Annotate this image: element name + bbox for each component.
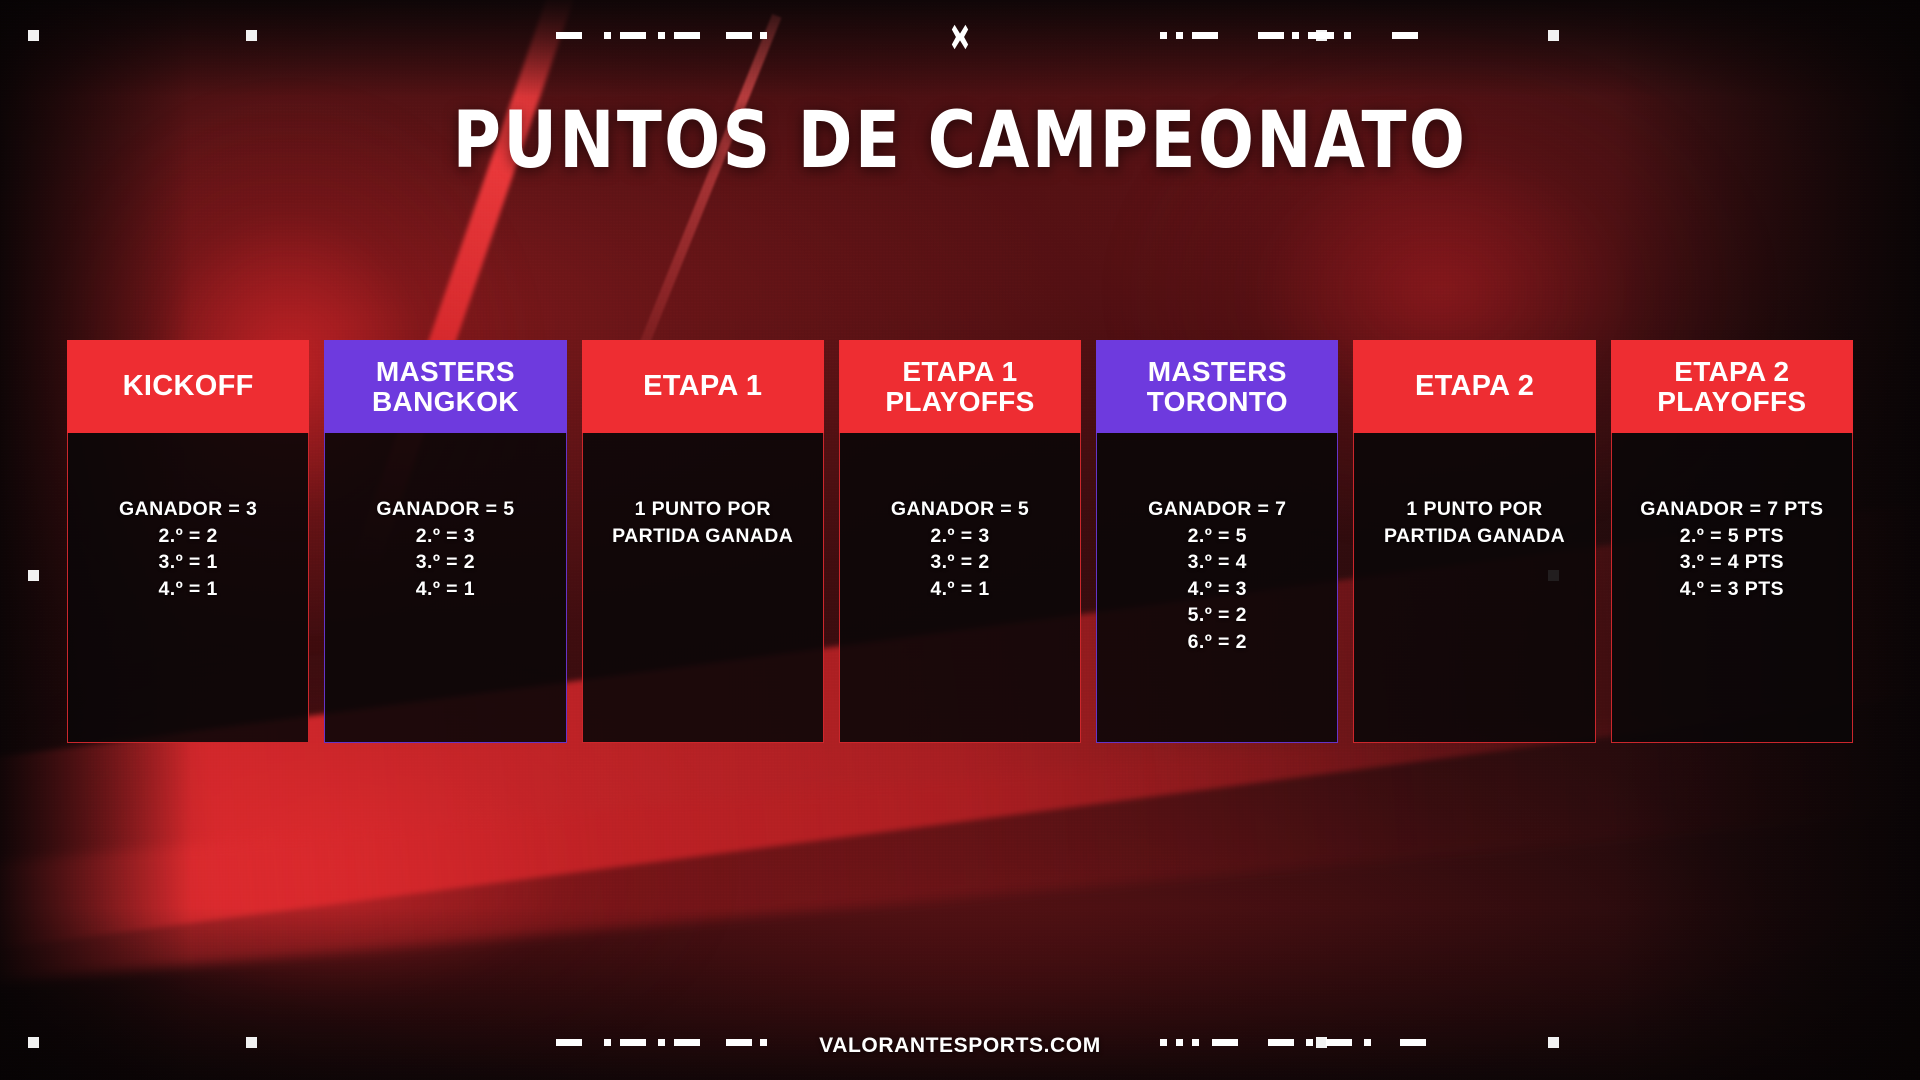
card-header-etapa-1-playoffs: ETAPA 1PLAYOFFS <box>839 340 1081 433</box>
corner-square-marker <box>28 30 39 41</box>
card-header-line: MASTERS <box>1147 357 1288 387</box>
card-points-line: 4.º = 1 <box>840 576 1080 603</box>
card-header-text: MASTERSTORONTO <box>1147 357 1288 416</box>
card-points-line: 6.º = 2 <box>1097 629 1337 656</box>
card-header-kickoff: KICKOFF <box>67 340 309 433</box>
top-dash-marker <box>1344 32 1351 39</box>
card-header-text: ETAPA 2 <box>1415 371 1534 402</box>
corner-square-marker <box>246 30 257 41</box>
footer-website-label: VALORANTESPORTS.COM <box>0 1034 1920 1058</box>
card-body-etapa-2-playoffs: GANADOR = 7 PTS2.º = 5 PTS3.º = 4 PTS4.º… <box>1611 433 1853 743</box>
top-dash-marker <box>658 32 665 39</box>
card-points-line: 3.º = 4 <box>1097 549 1337 576</box>
card-header-text: KICKOFF <box>123 371 254 402</box>
card-header-line: TORONTO <box>1147 387 1288 417</box>
top-dash-marker <box>760 32 767 39</box>
card-body-masters-bangkok: GANADOR = 52.º = 33.º = 24.º = 1 <box>324 433 566 743</box>
card-header-line: PLAYOFFS <box>885 387 1034 417</box>
top-dash-marker <box>1176 32 1183 39</box>
card-body-etapa-1: 1 PUNTO PORPARTIDA GANADA <box>582 433 824 743</box>
card-header-text: ETAPA 1PLAYOFFS <box>885 357 1034 416</box>
card-body-masters-toronto: GANADOR = 72.º = 53.º = 44.º = 35.º = 26… <box>1096 433 1338 743</box>
top-dash-marker <box>1392 32 1418 39</box>
card-etapa-1-playoffs: ETAPA 1PLAYOFFSGANADOR = 52.º = 33.º = 2… <box>839 340 1081 743</box>
card-points-line: 1 PUNTO POR <box>1354 496 1594 523</box>
page-title: PUNTOS DE CAMPEONATO <box>58 96 1863 186</box>
points-cards-container: KICKOFFGANADOR = 32.º = 23.º = 14.º = 1M… <box>67 340 1853 743</box>
card-header-text: ETAPA 1 <box>643 371 762 402</box>
card-header-line: ETAPA 2 <box>1415 371 1534 402</box>
card-points-line: 4.º = 3 PTS <box>1612 576 1852 603</box>
card-points-line: 4.º = 1 <box>325 576 565 603</box>
card-points-line: 4.º = 3 <box>1097 576 1337 603</box>
top-dash-marker <box>620 32 646 39</box>
top-dash-marker <box>556 32 582 39</box>
card-kickoff: KICKOFFGANADOR = 32.º = 23.º = 14.º = 1 <box>67 340 309 743</box>
card-points-line: 3.º = 2 <box>325 549 565 576</box>
card-header-line: BANGKOK <box>372 387 519 417</box>
top-dash-marker <box>1192 32 1218 39</box>
card-points-line: 1 PUNTO POR <box>583 496 823 523</box>
card-header-text: ETAPA 2PLAYOFFS <box>1657 357 1806 416</box>
card-points-line: GANADOR = 7 <box>1097 496 1337 523</box>
card-points-line: 3.º = 4 PTS <box>1612 549 1852 576</box>
card-etapa-2-playoffs: ETAPA 2PLAYOFFSGANADOR = 7 PTS2.º = 5 PT… <box>1611 340 1853 743</box>
card-header-line: MASTERS <box>372 357 519 387</box>
card-masters-toronto: MASTERSTORONTOGANADOR = 72.º = 53.º = 44… <box>1096 340 1338 743</box>
card-points-line: GANADOR = 7 PTS <box>1612 496 1852 523</box>
top-dash-marker <box>1258 32 1284 39</box>
corner-square-marker <box>1548 30 1559 41</box>
top-dash-marker <box>604 32 611 39</box>
card-points-line: 3.º = 1 <box>68 549 308 576</box>
card-points-line: GANADOR = 3 <box>68 496 308 523</box>
card-header-etapa-2: ETAPA 2 <box>1353 340 1595 433</box>
card-points-line: 4.º = 1 <box>68 576 308 603</box>
card-points-line: PARTIDA GANADA <box>1354 523 1594 550</box>
top-dash-marker <box>1308 32 1334 39</box>
card-body-kickoff: GANADOR = 32.º = 23.º = 14.º = 1 <box>67 433 309 743</box>
card-header-line: PLAYOFFS <box>1657 387 1806 417</box>
card-points-line: 2.º = 5 <box>1097 523 1337 550</box>
card-header-line: ETAPA 1 <box>643 371 762 402</box>
card-header-line: ETAPA 2 <box>1657 357 1806 387</box>
card-points-line: GANADOR = 5 <box>325 496 565 523</box>
card-header-etapa-1: ETAPA 1 <box>582 340 824 433</box>
top-dash-marker <box>1160 32 1167 39</box>
card-header-masters-bangkok: MASTERSBANGKOK <box>324 340 566 433</box>
card-points-line: 2.º = 2 <box>68 523 308 550</box>
card-body-etapa-1-playoffs: GANADOR = 52.º = 33.º = 24.º = 1 <box>839 433 1081 743</box>
top-dash-marker <box>1292 32 1299 39</box>
card-etapa-1: ETAPA 11 PUNTO PORPARTIDA GANADA <box>582 340 824 743</box>
infographic-root: PUNTOS DE CAMPEONATO KICKOFFGANADOR = 32… <box>0 0 1920 1080</box>
card-points-line: 2.º = 3 <box>325 523 565 550</box>
card-points-line: 5.º = 2 <box>1097 602 1337 629</box>
card-masters-bangkok: MASTERSBANGKOKGANADOR = 52.º = 33.º = 24… <box>324 340 566 743</box>
card-header-line: KICKOFF <box>123 371 254 402</box>
card-header-line: ETAPA 1 <box>885 357 1034 387</box>
card-header-etapa-2-playoffs: ETAPA 2PLAYOFFS <box>1611 340 1853 433</box>
card-points-line: PARTIDA GANADA <box>583 523 823 550</box>
card-points-line: 2.º = 3 <box>840 523 1080 550</box>
corner-square-marker <box>28 570 39 581</box>
card-points-line: 3.º = 2 <box>840 549 1080 576</box>
top-dash-marker <box>726 32 752 39</box>
card-body-etapa-2: 1 PUNTO PORPARTIDA GANADA <box>1353 433 1595 743</box>
valorant-x-logo-icon <box>943 20 977 54</box>
card-header-text: MASTERSBANGKOK <box>372 357 519 416</box>
card-header-masters-toronto: MASTERSTORONTO <box>1096 340 1338 433</box>
card-points-line: GANADOR = 5 <box>840 496 1080 523</box>
top-dash-marker <box>674 32 700 39</box>
card-points-line: 2.º = 5 PTS <box>1612 523 1852 550</box>
card-etapa-2: ETAPA 21 PUNTO PORPARTIDA GANADA <box>1353 340 1595 743</box>
